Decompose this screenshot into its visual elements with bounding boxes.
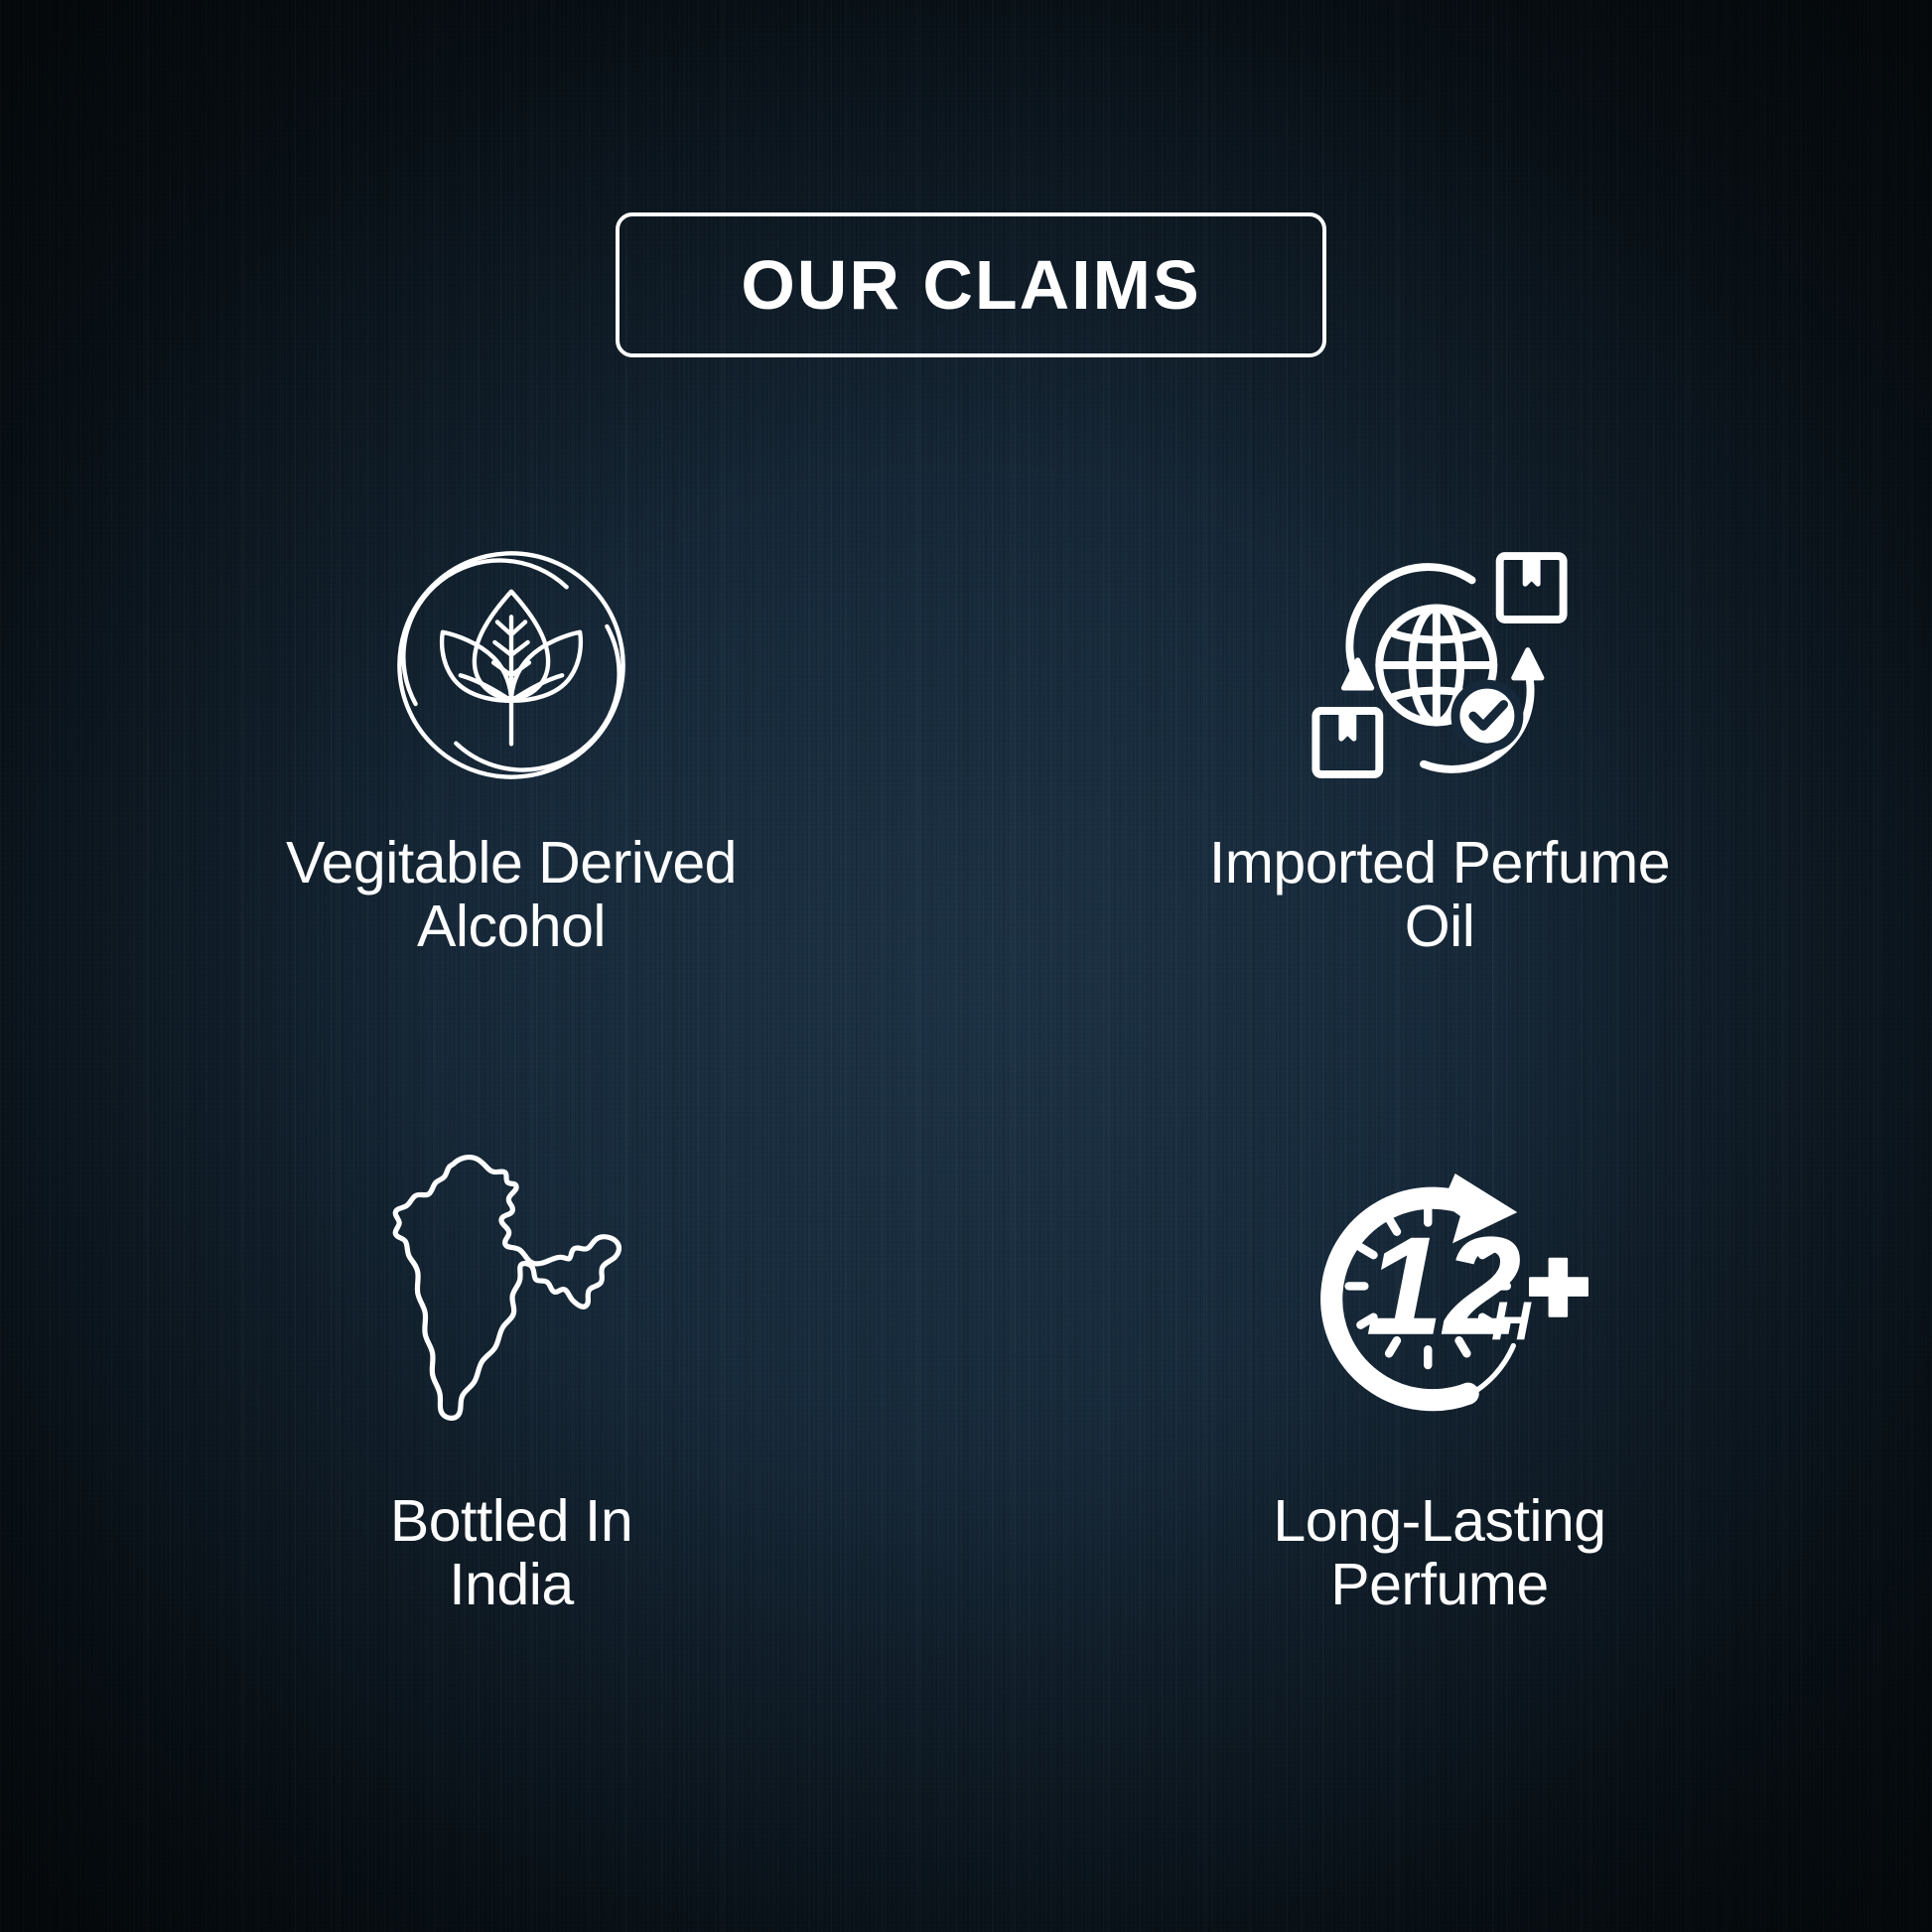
claim-item-long-lasting-perfume: 12 H Long-Lasting Perfume (1132, 1127, 1747, 1616)
claim-item-bottled-in-india: Bottled In India (204, 1127, 819, 1616)
globe-shipping-boxes-icon (1310, 516, 1570, 814)
claim-item-imported-perfume-oil: Imported Perfume Oil (1132, 516, 1747, 958)
page-title: OUR CLAIMS (741, 250, 1200, 320)
claim-label: Bottled In India (390, 1490, 632, 1616)
leaf-plant-circle-icon (384, 516, 638, 814)
claim-item-vegitable-derived-alcohol: Vegitable Derived Alcohol (204, 516, 819, 958)
claim-label: Vegitable Derived Alcohol (286, 832, 737, 958)
twelve-hour-plus-clock-icon: 12 H (1291, 1127, 1588, 1454)
plus-sign (1529, 1258, 1588, 1317)
header-title-box: OUR CLAIMS (616, 212, 1326, 357)
clock-hours-unit: H (1491, 1290, 1532, 1351)
claims-poster: OUR CLAIMS (0, 0, 1932, 1932)
claim-label: Long-Lasting Perfume (1273, 1490, 1605, 1616)
india-map-outline-icon (388, 1127, 634, 1454)
claim-label: Imported Perfume Oil (1209, 832, 1670, 958)
